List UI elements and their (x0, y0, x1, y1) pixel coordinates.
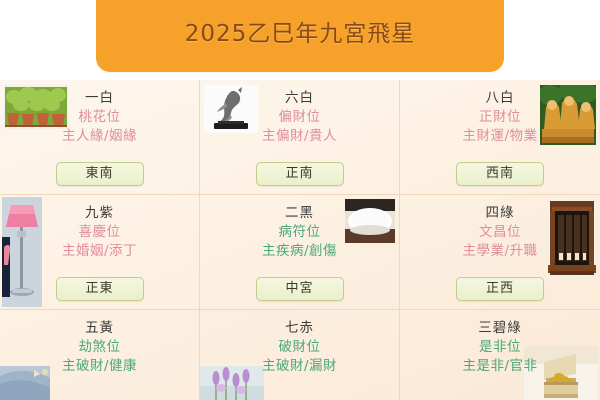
flying-star-grid: 一白 桃花位 主人緣/姻緣 東南 (0, 80, 600, 400)
cell-position-8: 破財位 (200, 338, 399, 357)
direction-badge-1[interactable]: 東南 (56, 162, 144, 186)
grid-cell-5[interactable]: 二黑 病符位 主疾病/創傷 中宮 (200, 195, 400, 310)
blue-cloth-image (0, 366, 50, 400)
direction-badge-3[interactable]: 西南 (456, 162, 544, 186)
nine-palace-flying-star-chart: 2025乙巳年九宮飛星 (0, 0, 600, 400)
lavender-flowers-image (200, 366, 264, 400)
pink-floor-lamp-image (2, 197, 42, 307)
title-banner-area: 2025乙巳年九宮飛星 (0, 0, 600, 80)
horse-statue-image (204, 85, 258, 133)
direction-badge-5[interactable]: 中宮 (256, 277, 344, 301)
title-banner: 2025乙巳年九宮飛星 (96, 0, 504, 72)
salt-bowl-image (345, 199, 395, 243)
grid-cell-9[interactable]: 三碧綠 是非位 主是非/官非 (400, 310, 600, 400)
direction-badge-2[interactable]: 正南 (256, 162, 344, 186)
cell-meaning-1: 主人緣/姻緣 (0, 127, 199, 146)
direction-badge-6[interactable]: 正西 (456, 277, 544, 301)
grid-cell-3[interactable]: 八白 正財位 主財運/物業 西南 (400, 80, 600, 195)
cell-star-7: 五黃 (0, 319, 199, 338)
grid-cell-7[interactable]: 五黃 劫煞位 主破財/健康 (0, 310, 200, 400)
cell-meaning-5: 主疾病/創傷 (200, 242, 399, 261)
grid-cell-2[interactable]: 六白 偏財位 主偏財/貴人 正南 (200, 80, 400, 195)
grid-cell-1[interactable]: 一白 桃花位 主人緣/姻緣 東南 (0, 80, 200, 195)
cell-star-9: 三碧綠 (400, 319, 600, 338)
potted-plants-image (4, 85, 68, 129)
direction-badge-4[interactable]: 正東 (56, 277, 144, 301)
wooden-cabinet-image (548, 199, 596, 277)
cell-star-8: 七赤 (200, 319, 399, 338)
grid-cell-6[interactable]: 四綠 文昌位 主學業/升職 正西 (400, 195, 600, 310)
cell-position-7: 劫煞位 (0, 338, 199, 357)
grid-cell-8[interactable]: 七赤 破財位 主破財/漏財 (200, 310, 400, 400)
gold-ingot-box-image (524, 346, 598, 400)
grid-cell-4[interactable]: 九紫 喜慶位 主婚姻/添丁 正東 (0, 195, 200, 310)
golden-figurines-image (540, 85, 596, 145)
page-title: 2025乙巳年九宮飛星 (96, 20, 504, 48)
